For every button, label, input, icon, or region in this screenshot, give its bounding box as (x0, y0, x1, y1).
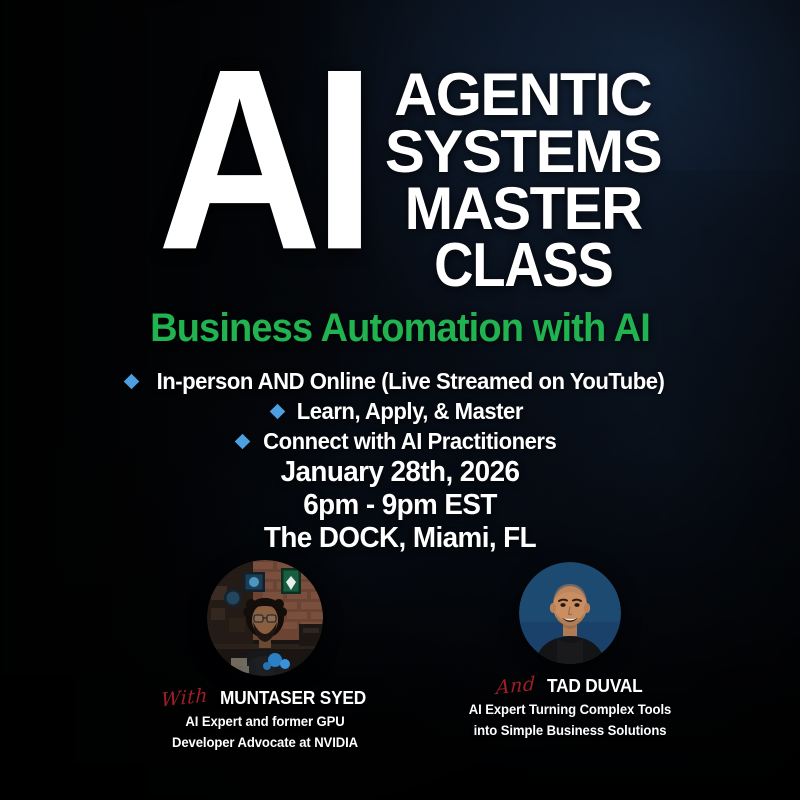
bullet-label: In-person AND Online (Live Streamed on Y… (156, 368, 664, 395)
title-line-1: AGENTIC (395, 66, 652, 123)
avatar (519, 562, 621, 664)
event-date: January 28th, 2026 (16, 456, 784, 489)
connector-word: And (496, 673, 536, 699)
diamond-bullet-icon (270, 404, 286, 420)
subtitle: Business Automation with AI (20, 306, 780, 351)
speaker-card: With MUNTASER SYED AI Expert and former … (110, 560, 420, 752)
event-details: January 28th, 2026 6pm - 9pm EST The DOC… (0, 456, 800, 555)
speaker-role-line: into Simple Business Solutions (420, 722, 721, 739)
bullet-item: Learn, Apply, & Master (0, 398, 800, 425)
ai-monogram: AI (157, 56, 367, 262)
poster-content: AI AGENTIC SYSTEMS MASTER CLASS Business… (0, 0, 800, 800)
title-line-3: MASTER (404, 180, 641, 237)
connector-word: With (161, 684, 209, 711)
credit-head: With MUNTASER SYED (110, 687, 420, 709)
bullet-label: Learn, Apply, & Master (297, 398, 523, 425)
bullet-item: Connect with AI Practitioners (0, 428, 800, 455)
avatar (207, 560, 323, 676)
title-line-2: SYSTEMS (385, 123, 661, 180)
speaker-name: MUNTASER SYED (220, 688, 366, 709)
speaker-name: TAD DUVAL (547, 676, 643, 697)
speaker-card: And TAD DUVAL AI Expert Turning Complex … (415, 560, 725, 740)
diamond-bullet-icon (123, 374, 139, 390)
portrait-muntaser-syed (207, 560, 323, 676)
event-time: 6pm - 9pm EST (16, 489, 784, 522)
bullet-item: In-person AND Online (Live Streamed on Y… (0, 368, 800, 395)
speaker-section: With MUNTASER SYED AI Expert and former … (0, 560, 800, 770)
diamond-bullet-icon (235, 434, 251, 450)
masthead: AI AGENTIC SYSTEMS MASTER CLASS (0, 52, 800, 296)
title-stack: AGENTIC SYSTEMS MASTER CLASS (385, 66, 661, 296)
speaker-role-line: Developer Advocate at NVIDIA (115, 734, 416, 751)
event-poster: AI AGENTIC SYSTEMS MASTER CLASS Business… (0, 0, 800, 800)
event-location: The DOCK, Miami, FL (16, 522, 784, 555)
credit-head: And TAD DUVAL (415, 675, 725, 697)
bullet-list: In-person AND Online (Live Streamed on Y… (0, 368, 800, 458)
bullet-label: Connect with AI Practitioners (263, 428, 556, 455)
speaker-role-line: AI Expert and former GPU (115, 713, 416, 730)
speaker-role-line: AI Expert Turning Complex Tools (420, 701, 721, 718)
title-line-4: CLASS (434, 237, 612, 296)
avatar-wrap (110, 560, 420, 676)
avatar-wrap (415, 560, 725, 664)
portrait-tad-duval (519, 562, 621, 664)
